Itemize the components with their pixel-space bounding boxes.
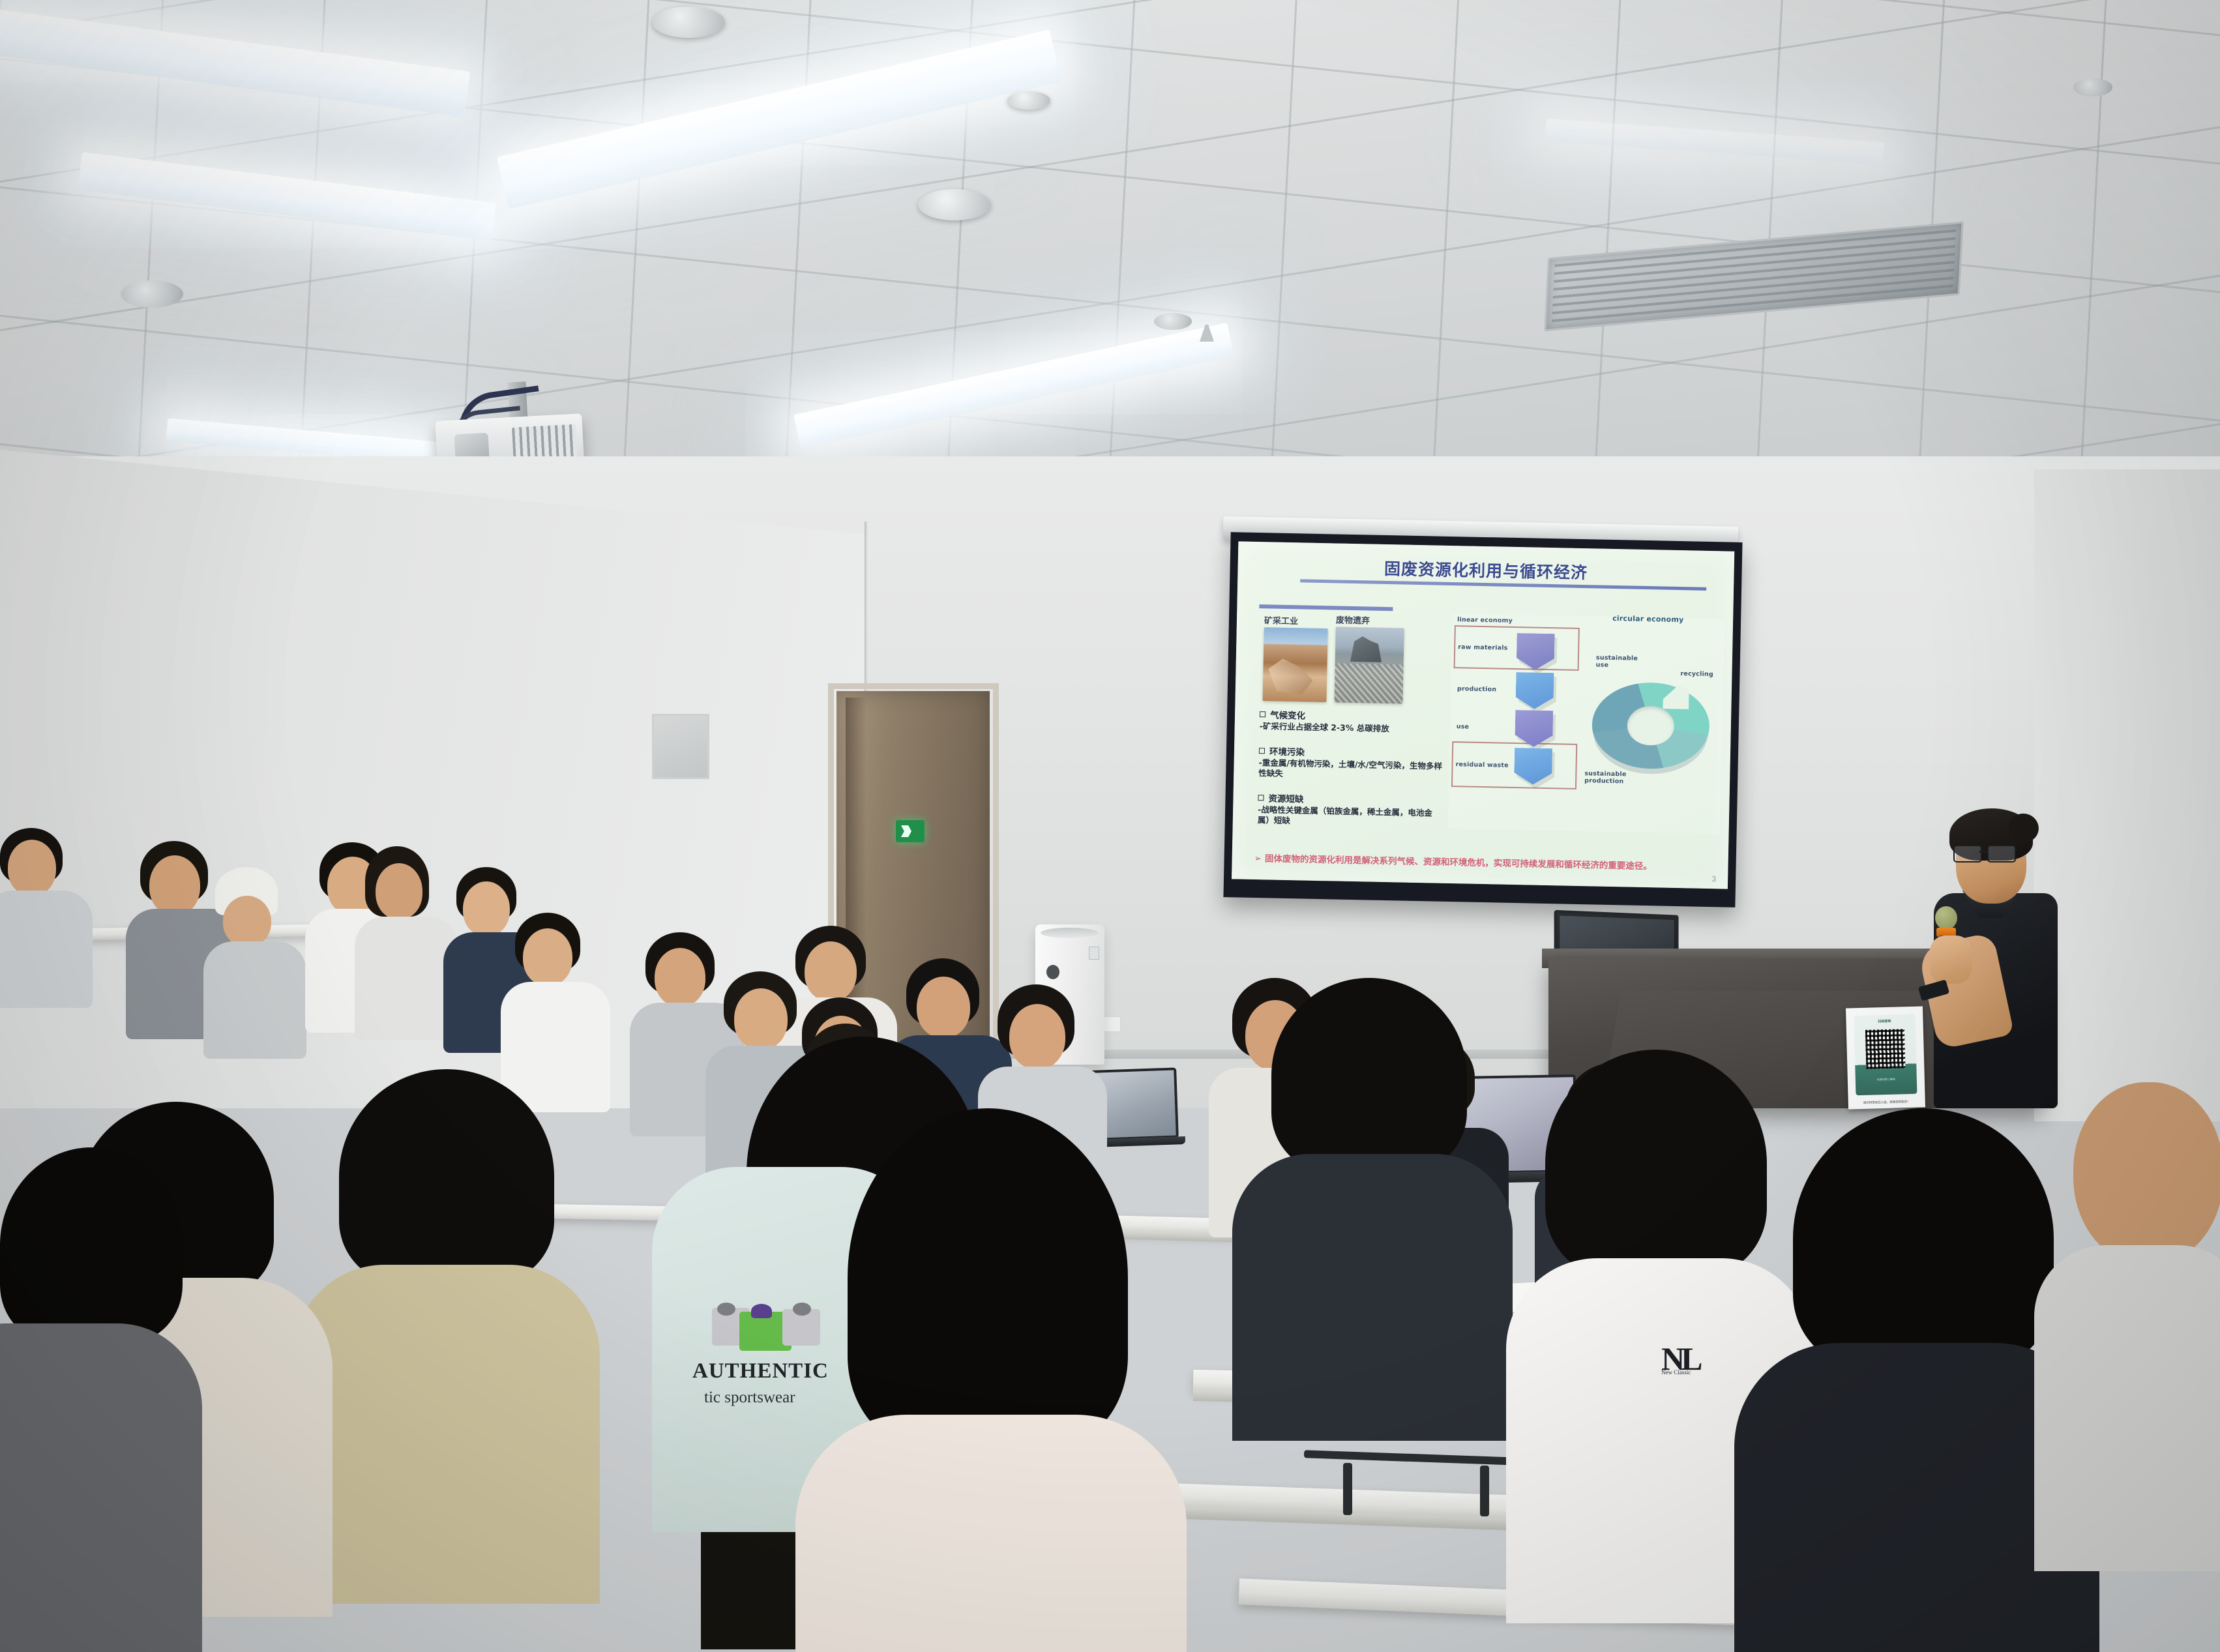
- smoke-detector-icon: [1007, 91, 1050, 110]
- wall-access-panel: [652, 714, 709, 779]
- person-head: [149, 855, 200, 915]
- qr-card: 扫码签到 长按识别二维码: [1854, 1014, 1917, 1095]
- exit-sign-icon: [896, 820, 925, 842]
- slide-conclusion: ➢固体废物的资源化利用是解决系列气候、资源和环境危机，实现可持续发展和循环经济的…: [1254, 853, 1711, 874]
- diagram-label-circular-economy: circular economy: [1612, 614, 1684, 624]
- person-hair: [1793, 1108, 2054, 1369]
- person-torso: [293, 1265, 600, 1604]
- chair-frame: [1304, 1450, 1519, 1466]
- tshirt-text-line2: tic sportswear: [704, 1389, 795, 1407]
- diagram-step-recycling: recycling: [1680, 670, 1713, 678]
- slide-number: 3: [1711, 874, 1716, 883]
- person-hair: [339, 1069, 554, 1284]
- person-hair: [1271, 978, 1467, 1173]
- slide-image-label-waste: 废物遗弃: [1336, 613, 1370, 626]
- tshirt-text-line1: AUTHENTIC: [692, 1359, 829, 1383]
- tshirt-graphic: [712, 1303, 836, 1353]
- diagram-step-use: use: [1457, 723, 1470, 730]
- presenter: [1916, 808, 2079, 1115]
- donut-gap: [1663, 685, 1689, 709]
- slide-image-label-mining: 矿采工业: [1264, 613, 1298, 627]
- chair-leg: [1343, 1463, 1352, 1515]
- bullet-detail-scarcity: -战略性关键金属（铂族金属，稀土金属，电池金属）短缺: [1258, 804, 1444, 830]
- diagram-step-sustainable-production: sustainable production: [1584, 770, 1630, 786]
- person-head: [655, 948, 705, 1007]
- person-head: [805, 941, 857, 1001]
- lecture-hall-photo: 固废资源化利用与循环经济 矿采工业 废物遗弃 气候变化 -矿采行业占据全球 2-…: [0, 0, 2220, 1652]
- person-head: [523, 928, 572, 986]
- arrow-bullet-icon: ➢: [1254, 853, 1262, 864]
- diagram-label-linear-economy: linear economy: [1457, 616, 1513, 625]
- eyeglasses-icon: [1953, 845, 2016, 861]
- door-edge-panel: [846, 698, 866, 1050]
- person-head: [8, 840, 56, 896]
- slide-photo-waste: [1334, 627, 1404, 703]
- projection-screen: 固废资源化利用与循环经济 矿采工业 废物遗弃 气候变化 -矿采行业占据全球 2-…: [1223, 532, 1742, 907]
- person-torso: [0, 1323, 202, 1652]
- presenter-hand: [1930, 936, 1972, 984]
- person-head: [2073, 1082, 2220, 1265]
- microphone-head-icon: [1935, 906, 1957, 930]
- crocodile-eye-icon: [717, 1303, 735, 1316]
- purifier-power-button[interactable]: [1046, 965, 1059, 979]
- ceiling-speaker-icon: [1154, 313, 1192, 330]
- person-hair: [0, 1147, 183, 1343]
- slide-bullet-list: 气候变化 -矿采行业占据全球 2-3% 总碳排放 环境污染 -重金属/有机物污染…: [1257, 707, 1445, 840]
- person-long-hair: [848, 1108, 1128, 1447]
- bullet-square-icon: [1259, 748, 1265, 754]
- diagram-step-residual-waste: residual waste: [1456, 761, 1509, 769]
- ceiling-speaker-icon: [2073, 78, 2112, 96]
- ceiling-speaker-icon: [121, 280, 183, 308]
- qr-poster-title: 扫码签到: [1854, 1018, 1915, 1024]
- person-torso: [0, 891, 93, 1008]
- qr-code-icon: [1865, 1029, 1906, 1069]
- purifier-label: [1089, 947, 1099, 960]
- qr-poster-footer: 长按识别二维码: [1856, 1077, 1917, 1082]
- presentation-slide: 固废资源化利用与循环经济 矿采工业 废物遗弃 气候变化 -矿采行业占据全球 2-…: [1232, 541, 1734, 889]
- person-head: [1009, 1004, 1065, 1069]
- smoke-detector-icon: [918, 189, 991, 220]
- bullet-detail-pollution: -重金属/有机物污染，土壤/水/空气污染，生物多样性缺失: [1258, 758, 1445, 783]
- person-head: [917, 977, 970, 1038]
- qr-code-poster[interactable]: 扫码签到 长按识别二维码 请扫码签到后入座，感谢您的配合！: [1846, 1006, 1925, 1109]
- person-head: [376, 863, 422, 919]
- slide-photo-mining: [1263, 627, 1328, 702]
- chair-leg: [1480, 1466, 1489, 1516]
- qr-poster-note: 请扫码签到后入座，感谢您的配合！: [1848, 1099, 1925, 1105]
- person-hair: [1545, 1050, 1767, 1278]
- crocodile-eye-icon: [793, 1303, 811, 1316]
- person-torso: [1232, 1154, 1513, 1441]
- person-torso: [795, 1415, 1187, 1652]
- person-head: [223, 896, 271, 947]
- diagram-step-raw-materials: raw materials: [1458, 643, 1508, 652]
- glasses-bridge: [1979, 851, 1990, 853]
- person-torso: [501, 982, 610, 1112]
- person-torso: [2034, 1245, 2220, 1571]
- person-head: [734, 988, 788, 1050]
- tshirt-back-sublabel: New Classic: [1661, 1369, 1691, 1376]
- bullet-square-icon: [1258, 795, 1264, 801]
- slide-economy-diagram: linear economy circular economy raw mate…: [1448, 613, 1725, 834]
- person-head: [463, 881, 510, 936]
- circular-economy-donut-icon: [1591, 681, 1711, 770]
- crocodile-cap-icon: [751, 1304, 772, 1318]
- diagram-step-production: production: [1457, 685, 1497, 693]
- person-torso: [203, 941, 306, 1059]
- smoke-detector-icon: [652, 7, 725, 38]
- slide-conclusion-text: 固体废物的资源化利用是解决系列气候、资源和环境危机，实现可持续发展和循环经济的重…: [1265, 853, 1652, 872]
- diagram-step-sustainable-use: sustainable use: [1596, 654, 1636, 670]
- power-socket[interactable]: [1102, 1016, 1121, 1033]
- bullet-square-icon: [1260, 711, 1265, 717]
- slide-section-rule: [1259, 604, 1393, 611]
